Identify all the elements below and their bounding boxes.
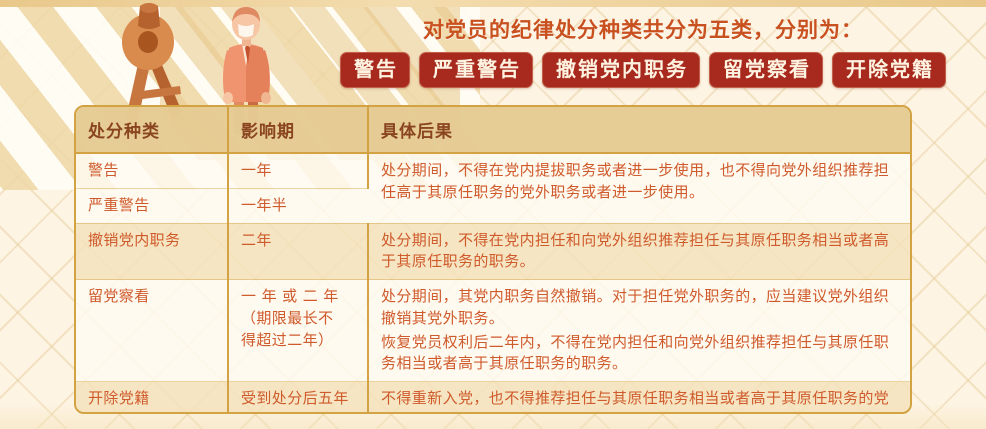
table-row: 警告 一年 处分期间，不得在党内提拔职务或者进一步使用，也不得向党外组织推荐担任… xyxy=(76,153,910,188)
effect-paragraph: 恢复党员权利后二年内，不得在党内担任和向党外组织推荐担任与其原任职务相当或者高于… xyxy=(381,332,900,376)
badge-warning[interactable]: 警告 xyxy=(340,52,410,88)
effect-paragraph: 不得重新入党，也不得推荐担任与其原任职务相当或者高于其原任职务的党外职务。 xyxy=(381,388,900,414)
table-row: 开除党籍 受到处分后五年 不得重新入党，也不得推荐担任与其原任职务相当或者高于其… xyxy=(76,382,910,415)
cell-kind-remove-post: 撤销党内职务 xyxy=(76,223,228,280)
period-line: 一 年 或 二 年 xyxy=(241,286,357,308)
page-title: 对党员的纪律处分种类共分为五类，分别为： xyxy=(300,14,986,44)
cell-period-warning: 一年 xyxy=(228,153,368,188)
cell-period-probation: 一 年 或 二 年 （期限最长不 得超过二年） xyxy=(228,280,368,382)
cell-period-serious-warning: 一年半 xyxy=(228,188,368,223)
table-header-row: 处分种类 影响期 具体后果 xyxy=(76,107,910,153)
table-body: 警告 一年 处分期间，不得在党内提拔职务或者进一步使用，也不得向党外组织推荐担任… xyxy=(76,153,910,414)
discipline-table: 处分种类 影响期 具体后果 警告 一年 处分期间，不得在党内提拔职务或者进一步使… xyxy=(76,107,910,414)
effect-paragraph: 处分期间，其党内职务自然撤销。对于担任党外职务的，应当建议党外组织撤销其党外职务… xyxy=(381,286,900,330)
badge-expulsion[interactable]: 开除党籍 xyxy=(832,52,946,88)
cell-effect-warning-group: 处分期间，不得在党内提拔职务或者进一步使用，也不得向党外组织推荐担任高于其原任职… xyxy=(368,153,910,223)
cell-kind-probation: 留党察看 xyxy=(76,280,228,382)
period-line: （期限最长不 xyxy=(241,308,357,330)
cell-effect-probation: 处分期间，其党内职务自然撤销。对于担任党外职务的，应当建议党外组织撤销其党外职务… xyxy=(368,280,910,382)
cell-kind-warning: 警告 xyxy=(76,153,228,188)
discipline-type-badge-list: 警告 严重警告 撤销党内职务 留党察看 开除党籍 xyxy=(300,52,986,88)
discipline-table-container: 处分种类 影响期 具体后果 警告 一年 处分期间，不得在党内提拔职务或者进一步使… xyxy=(74,105,912,414)
column-header-kind: 处分种类 xyxy=(76,107,228,153)
table-row: 撤销党内职务 二年 处分期间，不得在党内担任和向党外组织推荐担任与其原任职务相当… xyxy=(76,223,910,280)
cell-kind-serious-warning: 严重警告 xyxy=(76,188,228,223)
effect-paragraph: 处分期间，不得在党内担任和向党外组织推荐担任与其原任职务相当或者高于其原任职务的… xyxy=(381,230,900,274)
period-line: 得超过二年） xyxy=(241,330,357,352)
badge-probation[interactable]: 留党察看 xyxy=(709,52,823,88)
poster-root: 对党员的纪律处分种类共分为五类，分别为： 警告 严重警告 撤销党内职务 留党察看… xyxy=(0,0,986,429)
cell-period-remove-post: 二年 xyxy=(228,223,368,280)
table-row: 留党察看 一 年 或 二 年 （期限最长不 得超过二年） 处分期间，其党内职务自… xyxy=(76,280,910,382)
badge-serious-warning[interactable]: 严重警告 xyxy=(419,52,533,88)
badge-remove-post[interactable]: 撤销党内职务 xyxy=(542,52,700,88)
column-header-period: 影响期 xyxy=(228,107,368,153)
effect-paragraph: 处分期间，不得在党内提拔职务或者进一步使用，也不得向党外组织推荐担任高于其原任职… xyxy=(381,160,900,204)
cell-period-expulsion: 受到处分后五年 xyxy=(228,382,368,415)
table-header: 处分种类 影响期 具体后果 xyxy=(76,107,910,153)
cell-effect-remove-post: 处分期间，不得在党内担任和向党外组织推荐担任与其原任职务相当或者高于其原任职务的… xyxy=(368,223,910,280)
cell-kind-expulsion: 开除党籍 xyxy=(76,382,228,415)
column-header-effect: 具体后果 xyxy=(368,107,910,153)
cell-effect-expulsion: 不得重新入党，也不得推荐担任与其原任职务相当或者高于其原任职务的党外职务。 xyxy=(368,382,910,415)
